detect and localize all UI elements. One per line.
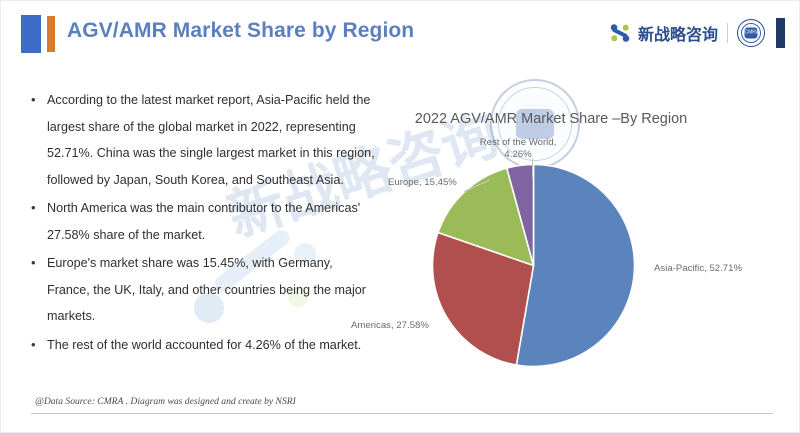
slice-label-rest-of-world: Rest of the World, 4.26% — [472, 137, 564, 161]
slice-label-asia-pacific: Asia-Pacific, 52.71% — [654, 263, 742, 275]
cmra-seal-label: CMRA — [745, 28, 758, 39]
slice-label-rotw-line2: 4.26% — [504, 149, 531, 160]
bullet-text: Europe's market share was 15.45%, with G… — [47, 250, 376, 330]
bullet-list: • According to the latest market report,… — [31, 87, 376, 360]
bullet-text: According to the latest market report, A… — [47, 87, 376, 193]
slice-label-americas: Americas, 27.58% — [351, 320, 429, 332]
page-title: AGV/AMR Market Share by Region — [67, 19, 414, 43]
pie-svg — [431, 163, 636, 368]
slice-label-rotw-line1: Rest of the World, — [480, 137, 557, 148]
bullet-text: The rest of the world accounted for 4.26… — [47, 332, 376, 359]
pie-canvas — [431, 163, 636, 368]
company-logo-icon — [609, 22, 631, 44]
bullet-marker-icon: • — [31, 332, 47, 359]
header-accent-bar-orange — [47, 16, 55, 52]
brand-name-cn: 新战略咨询 — [638, 21, 718, 45]
brand-divider — [727, 23, 728, 43]
chart-title: 2022 AGV/AMR Market Share –By Region — [386, 111, 716, 127]
bullet-marker-icon: • — [31, 87, 47, 114]
list-item: • According to the latest market report,… — [31, 87, 376, 193]
pie-chart: 2022 AGV/AMR Market Share –By Region Res… — [386, 101, 796, 386]
list-item: • Europe's market share was 15.45%, with… — [31, 250, 376, 330]
slide-header: AGV/AMR Market Share by Region 新战略咨询 CMR… — [1, 1, 800, 63]
header-accent-bar-blue — [21, 15, 41, 53]
bullet-marker-icon: • — [31, 195, 47, 222]
bullet-marker-icon: • — [31, 250, 47, 277]
cmra-seal-icon: CMRA — [737, 19, 765, 47]
data-source-note: @Data Source: CMRA . Diagram was designe… — [35, 396, 296, 407]
list-item: • North America was the main contributor… — [31, 195, 376, 248]
list-item: • The rest of the world accounted for 4.… — [31, 332, 376, 359]
footer-divider — [31, 413, 773, 414]
slice-label-europe: Europe, 15.45% — [388, 177, 457, 189]
header-accent-bar-navy — [776, 18, 785, 48]
bullet-text: North America was the main contributor t… — [47, 195, 376, 248]
slide: AGV/AMR Market Share by Region 新战略咨询 CMR… — [0, 0, 800, 433]
brand-lockup: 新战略咨询 CMRA — [609, 19, 785, 47]
leader-line-rotw — [532, 159, 533, 177]
